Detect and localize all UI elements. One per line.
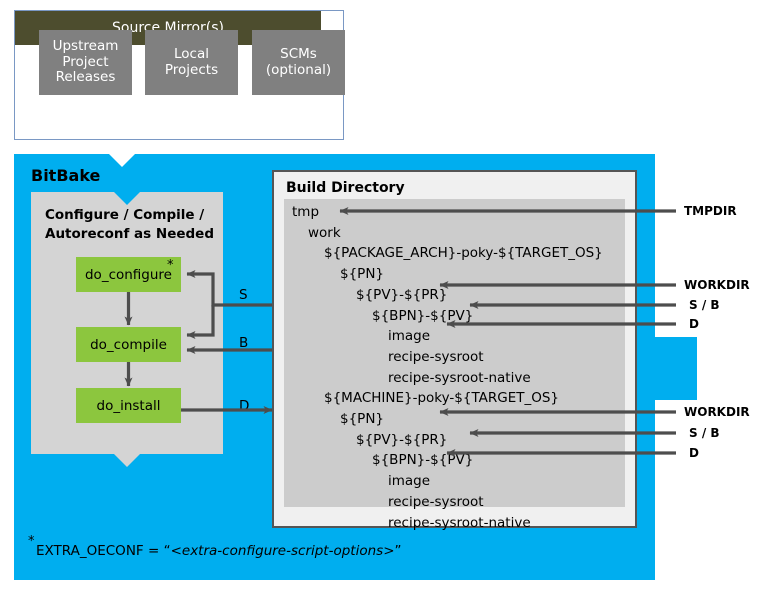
task-do-compile-label: do_compile <box>90 337 167 353</box>
task-do-install-label: do_install <box>97 398 161 414</box>
right-label-d-2: D <box>689 446 699 460</box>
footnote-marker: * <box>28 534 35 549</box>
tree-line: recipe-sysroot <box>292 347 632 368</box>
task-do-configure[interactable]: do_configure <box>76 257 181 292</box>
tree-line: work <box>292 223 632 244</box>
task-do-install[interactable]: do_install <box>76 388 181 423</box>
tree-line: ${PV}-${PR} <box>292 430 632 451</box>
footnote-italic: <extra-configure-script-options> <box>171 543 395 559</box>
footnote-text: EXTRA_OECONF = “<extra-configure-script-… <box>36 543 402 559</box>
notch-scms-to-mirror <box>285 103 311 116</box>
tree-line: tmp <box>292 202 632 223</box>
flow-label-b: B <box>239 335 248 351</box>
source-panel: Upstream Project Releases Local Projects… <box>14 10 344 140</box>
source-box-scms-label: SCMs (optional) <box>266 47 331 78</box>
tree-line: image <box>292 471 632 492</box>
notch-configure-box-bottom <box>114 454 140 467</box>
source-box-upstream-label: Upstream Project Releases <box>53 39 119 86</box>
source-box-upstream: Upstream Project Releases <box>39 30 132 95</box>
tree-line: ${PN} <box>292 264 632 285</box>
notch-local-to-mirror <box>178 103 204 116</box>
build-directory-title: Build Directory <box>286 180 405 196</box>
task-do-compile[interactable]: do_compile <box>76 327 181 362</box>
notch-mirror-bottom <box>110 124 136 137</box>
tree-line: ${BPN}-${PV} <box>292 306 632 327</box>
right-label-sb-1: S / B <box>689 298 720 312</box>
right-label-workdir-2: WORKDIR <box>684 405 750 419</box>
flow-label-s: S <box>239 287 248 303</box>
bitbake-panel-tab <box>655 337 697 400</box>
configure-box-title: Configure / Compile / Autoreconf as Need… <box>45 206 225 244</box>
tree-line: recipe-sysroot-native <box>292 368 632 389</box>
tree-line: recipe-sysroot <box>292 492 632 513</box>
tree-line: ${PACKAGE_ARCH}-poky-${TARGET_OS} <box>292 243 632 264</box>
do-configure-footnote-marker: * <box>167 258 174 273</box>
tree-line: recipe-sysroot-native <box>292 513 632 534</box>
footnote-suffix: ” <box>395 543 402 559</box>
right-label-tmpdir: TMPDIR <box>684 204 737 218</box>
right-label-sb-2: S / B <box>689 426 720 440</box>
tree-line: ${PN} <box>292 409 632 430</box>
tree-line: image <box>292 326 632 347</box>
right-label-workdir-1: WORKDIR <box>684 278 750 292</box>
notch-upstream-to-mirror <box>72 103 98 116</box>
task-do-configure-label: do_configure <box>85 267 172 283</box>
tree-line: ${MACHINE}-poky-${TARGET_OS} <box>292 388 632 409</box>
bitbake-title: BitBake <box>31 166 100 185</box>
notch-mirror-to-bitbake <box>109 154 135 167</box>
tree-line: ${BPN}-${PV} <box>292 450 632 471</box>
build-directory-tree: tmpwork${PACKAGE_ARCH}-poky-${TARGET_OS}… <box>292 202 632 533</box>
source-box-scms: SCMs (optional) <box>252 30 345 95</box>
source-box-local: Local Projects <box>145 30 238 95</box>
flow-label-d: D <box>239 398 249 414</box>
tree-line: ${PV}-${PR} <box>292 285 632 306</box>
footnote-prefix: EXTRA_OECONF = “ <box>36 543 171 559</box>
right-label-d-1: D <box>689 317 699 331</box>
notch-bitbake-to-configure-box <box>114 192 140 205</box>
source-box-local-label: Local Projects <box>165 47 218 78</box>
